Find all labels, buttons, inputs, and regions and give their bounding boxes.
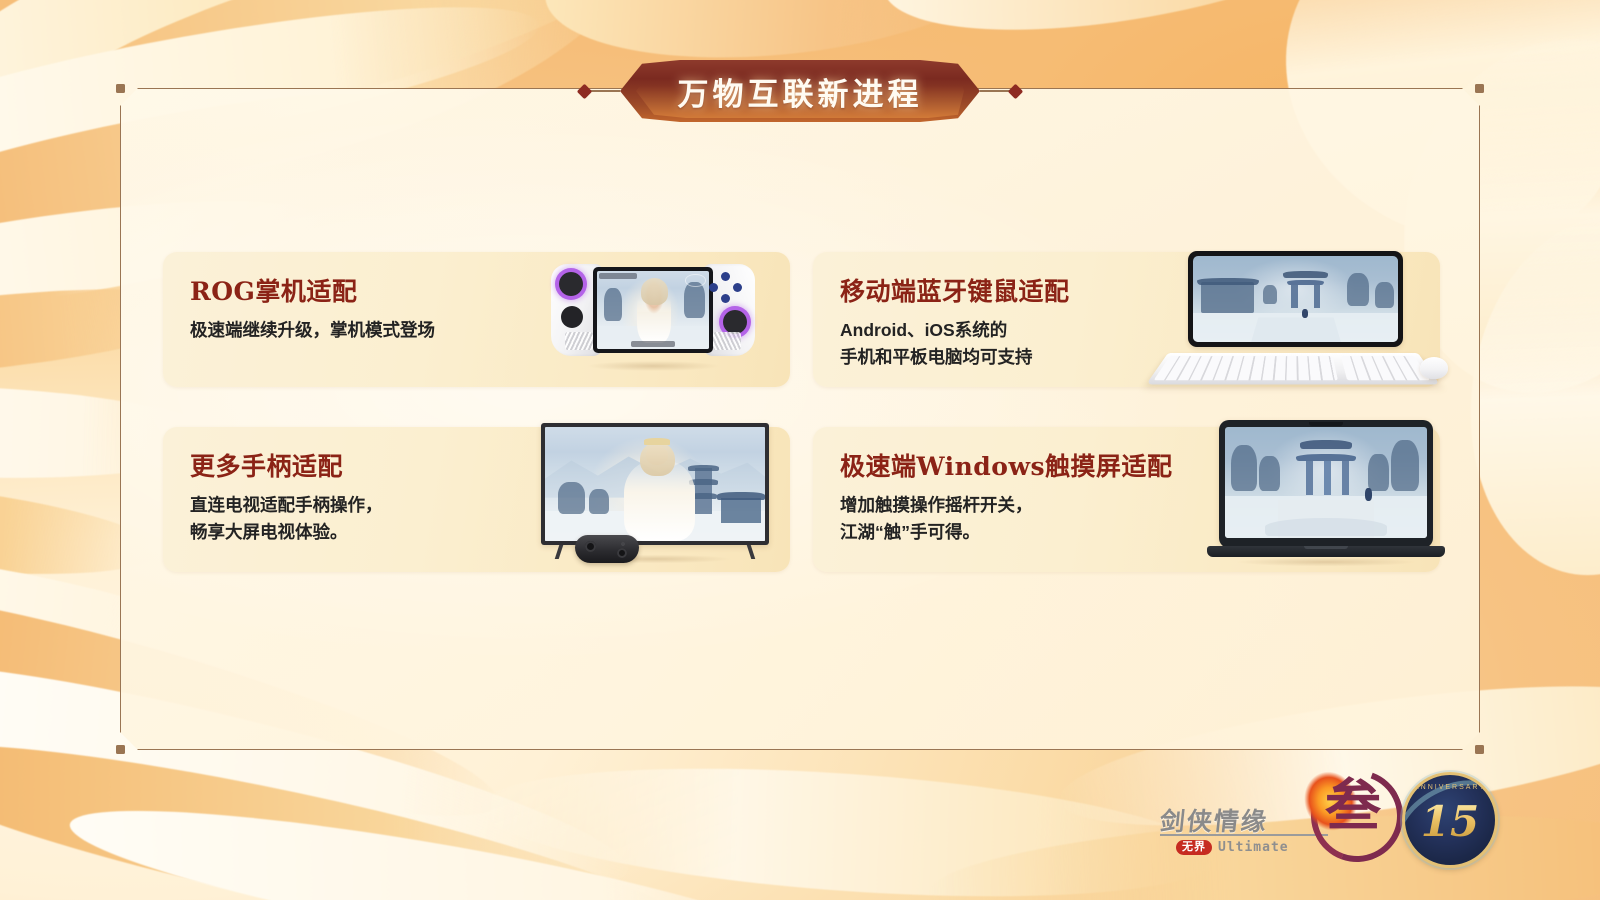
scene-roof-left bbox=[1197, 278, 1259, 285]
gamepad-left-stick[interactable] bbox=[585, 541, 596, 552]
tablet-screen-content bbox=[1193, 256, 1398, 342]
keyboard-keys bbox=[1154, 356, 1338, 380]
scene-building-left bbox=[1201, 282, 1254, 313]
tv-screen-content bbox=[545, 427, 765, 541]
page-title: 万物互联新进程 bbox=[678, 69, 923, 114]
scene-tree bbox=[1375, 282, 1393, 308]
handheld-button-x[interactable] bbox=[709, 283, 718, 292]
banner-connector-right bbox=[980, 90, 1010, 91]
frame-corner-accent-top-left bbox=[116, 84, 125, 93]
card-description-line: Android、iOS系统的 bbox=[840, 317, 1070, 344]
card-title: 极速端Windows触摸屏适配 bbox=[840, 447, 1173, 483]
scene-tree bbox=[1263, 285, 1277, 304]
handheld-button-y[interactable] bbox=[721, 272, 730, 281]
frame-corner-accent-bottom-right bbox=[1475, 745, 1484, 754]
scene-tree bbox=[604, 288, 622, 321]
feature-card-windows-touch[interactable]: 极速端Windows触摸屏适配 增加触摸操作摇杆开关， 江湖“触”手可得。 bbox=[813, 427, 1440, 572]
card-text-block: 移动端蓝牙键鼠适配 Android、iOS系统的 手机和平板电脑均可支持 bbox=[840, 272, 1070, 370]
scene-tree bbox=[589, 489, 609, 514]
feature-card-more-gamepads[interactable]: 更多手柄适配 直连电视适配手柄操作， 畅享大屏电视体验。 bbox=[163, 427, 790, 572]
scene-character-crown bbox=[644, 438, 670, 445]
title-banner: 万物互联新进程 bbox=[579, 60, 1021, 122]
frame-corner-accent-top-right bbox=[1475, 84, 1484, 93]
card-title: ROG掌机适配 bbox=[190, 272, 435, 308]
jx3-logo-underline bbox=[1160, 834, 1328, 836]
jx3-san-emblem: 叁 bbox=[1305, 764, 1415, 864]
scene-gate-pillar bbox=[1314, 285, 1320, 307]
scene-gate-pillar bbox=[1291, 285, 1297, 307]
bluetooth-keyboard bbox=[1146, 353, 1440, 385]
scene-pavilion-roof bbox=[717, 492, 765, 500]
device-shadow bbox=[1201, 556, 1451, 568]
footer-logos: 剑侠情缘 无界 Ultimate 叁 ANNIVERSARY 15 bbox=[1150, 762, 1550, 877]
scene-pagoda bbox=[695, 468, 713, 514]
banner-connector-left bbox=[590, 90, 620, 91]
scene-character-hair bbox=[640, 442, 675, 476]
jx3-badge-red-label: 无界 bbox=[1176, 840, 1212, 855]
device-laptop bbox=[1201, 420, 1451, 572]
scene-tree bbox=[1231, 445, 1257, 492]
card-description-line: 极速端继续升级，掌机模式登场 bbox=[190, 317, 435, 344]
handheld-vent-right bbox=[713, 332, 741, 350]
card-text-block: 更多手柄适配 直连电视适配手柄操作， 畅享大屏电视体验。 bbox=[190, 447, 383, 545]
frame-corner-accent-bottom-left bbox=[116, 745, 125, 754]
hud-minimap bbox=[685, 274, 705, 286]
tv-body bbox=[541, 423, 769, 545]
gamepad-body bbox=[575, 535, 639, 563]
tablet-body bbox=[1188, 251, 1403, 347]
banner-plate: 万物互联新进程 bbox=[620, 60, 980, 122]
banner-diamond-right-icon bbox=[1008, 83, 1024, 99]
feature-card-mobile-bluetooth[interactable]: 移动端蓝牙键鼠适配 Android、iOS系统的 手机和平板电脑均可支持 bbox=[813, 252, 1440, 387]
scene-pavilion-roof-mid bbox=[1296, 454, 1357, 462]
gamepad-controller bbox=[575, 531, 639, 567]
handheld-vent-left bbox=[565, 332, 593, 350]
device-shadow bbox=[561, 359, 745, 373]
card-description-line: 直连电视适配手柄操作， bbox=[190, 492, 383, 519]
handheld-button-a[interactable] bbox=[721, 294, 730, 303]
device-rog-ally-handheld bbox=[543, 250, 763, 375]
scene-character-hair bbox=[641, 278, 668, 305]
scene-pavilion-pillar bbox=[1306, 461, 1313, 494]
scene-tree bbox=[1368, 454, 1388, 492]
anniversary-number: 15 bbox=[1405, 801, 1495, 843]
jx3-san-character: 叁 bbox=[1325, 778, 1381, 834]
feature-card-rog-handheld[interactable]: ROG掌机适配 极速端继续升级，掌机模式登场 bbox=[163, 252, 790, 387]
jx3-edition-badge: 无界 Ultimate bbox=[1176, 840, 1289, 855]
anniversary-emblem: ANNIVERSARY 15 bbox=[1402, 772, 1498, 868]
scene-stone-platform bbox=[1265, 518, 1386, 536]
jx3-badge-ultimate-label: Ultimate bbox=[1218, 840, 1289, 855]
laptop-screen-content bbox=[1225, 427, 1427, 538]
device-tv-gamepad bbox=[535, 423, 775, 568]
card-description-line: 畅享大屏电视体验。 bbox=[190, 519, 383, 546]
scene-tree bbox=[1259, 456, 1279, 492]
scene-pavilion-pillar bbox=[1342, 461, 1349, 494]
card-description-line: 手机和平板电脑均可支持 bbox=[840, 344, 1070, 371]
scene-tree bbox=[1347, 273, 1370, 306]
handheld-button-b[interactable] bbox=[733, 283, 742, 292]
keyboard-numpad bbox=[1341, 356, 1430, 380]
gamepad-abxy-buttons[interactable] bbox=[617, 539, 629, 549]
handheld-right-stick[interactable] bbox=[723, 310, 747, 334]
banner-diamond-left-icon bbox=[577, 83, 593, 99]
scene-path bbox=[1251, 318, 1341, 342]
scene-gate-roof bbox=[1283, 271, 1328, 278]
handheld-dpad[interactable] bbox=[561, 306, 583, 328]
card-text-block: 极速端Windows触摸屏适配 增加触摸操作摇杆开关， 江湖“触”手可得。 bbox=[840, 447, 1173, 545]
laptop-trackpad-notch bbox=[1304, 546, 1348, 549]
anniversary-caption: ANNIVERSARY bbox=[1405, 784, 1495, 791]
jx3-logo-text: 剑侠情缘 bbox=[1158, 802, 1270, 838]
hud-actionbar bbox=[631, 341, 676, 346]
gamepad-right-stick[interactable] bbox=[617, 548, 627, 558]
hud-topbar bbox=[599, 273, 637, 278]
feature-card-grid: ROG掌机适配 极速端继续升级，掌机模式登场 bbox=[163, 252, 1440, 572]
card-text-block: ROG掌机适配 极速端继续升级，掌机模式登场 bbox=[190, 272, 435, 344]
scene-tree bbox=[684, 282, 704, 318]
device-tablet-keyboard-mouse bbox=[1168, 247, 1458, 392]
card-description-line: 增加触摸操作摇杆开关， bbox=[840, 492, 1173, 519]
handheld-screen-bezel bbox=[593, 267, 713, 353]
scene-pavilion-right bbox=[721, 498, 761, 523]
bluetooth-mouse bbox=[1420, 357, 1448, 379]
handheld-left-stick[interactable] bbox=[559, 272, 583, 296]
card-title: 更多手柄适配 bbox=[190, 447, 383, 483]
scene-pavilion-roof-top bbox=[1300, 440, 1353, 449]
card-title: 移动端蓝牙键鼠适配 bbox=[840, 272, 1070, 308]
scene-figure bbox=[1302, 309, 1308, 318]
laptop-notch bbox=[1309, 422, 1343, 426]
handheld-screen-content bbox=[597, 271, 709, 349]
card-description-line: 江湖“触”手可得。 bbox=[840, 519, 1173, 546]
scene-pavilion-pillar bbox=[1324, 461, 1331, 494]
scene-tree bbox=[1391, 440, 1419, 491]
laptop-lid bbox=[1219, 420, 1433, 548]
scene-pagoda-roof bbox=[688, 465, 719, 472]
scene-tree bbox=[558, 482, 584, 514]
